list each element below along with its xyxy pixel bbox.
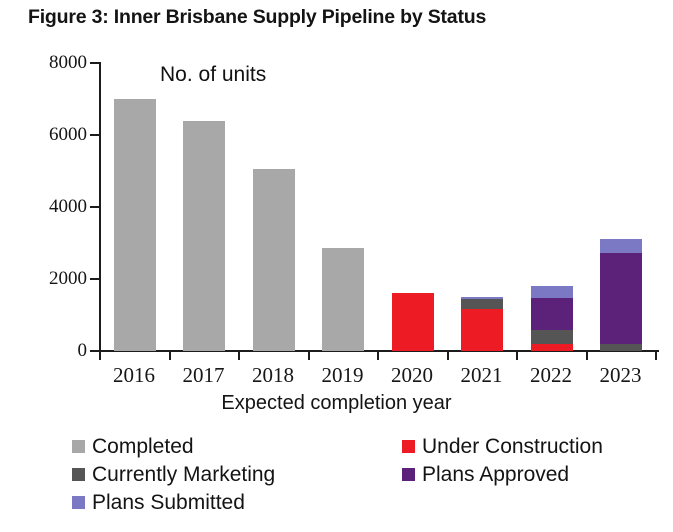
bar-stack-2022[interactable] (531, 286, 573, 351)
x-tick-mark (586, 350, 588, 360)
x-tick-mark (308, 350, 310, 360)
x-tick-mark (447, 350, 449, 360)
legend-swatch-icon (402, 440, 415, 453)
bar-segment-plans-approved[interactable] (531, 298, 573, 330)
x-tick-label-2018: 2018 (238, 363, 308, 388)
legend-item-under-construction[interactable]: Under Construction (402, 436, 603, 457)
y-tick-mark (90, 134, 100, 136)
y-tick-label: 8000 (49, 53, 87, 72)
bar-stack-2020[interactable] (392, 293, 434, 351)
x-tick-label-2016: 2016 (99, 363, 169, 388)
y-tick-label: 0 (78, 341, 88, 360)
bar-segment-currently-marketing[interactable] (531, 330, 573, 344)
x-tick-label-2022: 2022 (516, 363, 586, 388)
x-tick-label-2019: 2019 (308, 363, 378, 388)
x-tick-label-2020: 2020 (377, 363, 447, 388)
bar-segment-under-construction[interactable] (392, 293, 434, 351)
legend-label: Plans Submitted (92, 492, 245, 513)
bar-segment-under-construction[interactable] (461, 309, 503, 351)
y-tick-label: 2000 (49, 269, 87, 288)
x-tick-label-2023: 2023 (586, 363, 656, 388)
bar-segment-completed[interactable] (322, 248, 364, 351)
bar-segment-completed[interactable] (183, 121, 225, 351)
bar-segment-completed[interactable] (253, 169, 295, 351)
y-tick-mark (90, 206, 100, 208)
chart-legend: CompletedUnder ConstructionCurrently Mar… (72, 436, 672, 520)
bar-stack-2018[interactable] (253, 169, 295, 351)
legend-item-completed[interactable]: Completed (72, 436, 194, 457)
y-tick-mark (90, 62, 100, 64)
legend-item-currently-marketing[interactable]: Currently Marketing (72, 464, 275, 485)
legend-label: Currently Marketing (92, 464, 275, 485)
x-tick-label-2017: 2017 (169, 363, 239, 388)
x-tick-mark (238, 350, 240, 360)
bar-segment-currently-marketing[interactable] (461, 299, 503, 309)
legend-label: Plans Approved (422, 464, 569, 485)
legend-label: Completed (92, 436, 194, 457)
bar-segment-completed[interactable] (114, 99, 156, 351)
bar-stack-2016[interactable] (114, 99, 156, 351)
legend-item-plans-approved[interactable]: Plans Approved (402, 464, 569, 485)
units-annotation: No. of units (160, 63, 266, 87)
legend-swatch-icon (402, 468, 415, 481)
bar-stack-2017[interactable] (183, 121, 225, 351)
bar-stack-2023[interactable] (600, 239, 642, 351)
bar-stack-2019[interactable] (322, 248, 364, 351)
x-tick-label-2021: 2021 (447, 363, 517, 388)
legend-row: Plans Submitted (72, 492, 672, 520)
chart-plot-area: No. of units 02000400060008000 201620172… (0, 0, 673, 360)
bar-segment-under-construction[interactable] (531, 344, 573, 351)
legend-row: Currently MarketingPlans Approved (72, 464, 672, 492)
y-tick-label: 6000 (49, 125, 87, 144)
legend-item-plans-submitted[interactable]: Plans Submitted (72, 492, 245, 513)
bar-segment-plans-submitted[interactable] (600, 239, 642, 253)
legend-row: CompletedUnder Construction (72, 436, 672, 464)
y-tick-mark (90, 278, 100, 280)
y-tick-label: 4000 (49, 197, 87, 216)
bar-segment-plans-submitted[interactable] (531, 286, 573, 298)
legend-swatch-icon (72, 468, 85, 481)
bar-stack-2021[interactable] (461, 297, 503, 351)
legend-swatch-icon (72, 496, 85, 509)
x-tick-mark (516, 350, 518, 360)
bar-segment-plans-approved[interactable] (600, 253, 642, 344)
x-tick-mark (99, 350, 101, 360)
x-tick-mark (169, 350, 171, 360)
legend-swatch-icon (72, 440, 85, 453)
legend-label: Under Construction (422, 436, 603, 457)
bar-segment-currently-marketing[interactable] (600, 344, 642, 351)
x-tick-mark (377, 350, 379, 360)
x-tick-mark (655, 350, 657, 360)
x-axis-title: Expected completion year (0, 392, 673, 415)
